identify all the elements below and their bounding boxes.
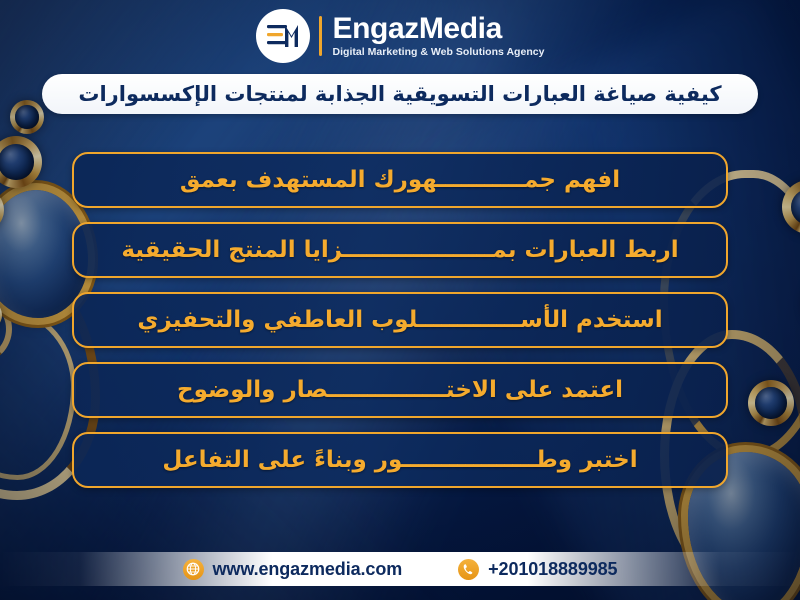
header: EngazMedia Digital Marketing & Web Solut… <box>0 0 800 72</box>
brand-text: EngazMedia Digital Marketing & Web Solut… <box>333 14 545 59</box>
list-item-label: استخدم الأســـــــــــــلوب العاطفي والت… <box>137 307 662 333</box>
list-item-label: اعتمد على الاختـــــــــــــــصار والوضو… <box>177 377 623 403</box>
list-item[interactable]: اختبر وطـــــــــــــــــور وبناءً على ا… <box>72 432 728 488</box>
list-item-label: اربط العبارات بمـــــــــــــــــــزايا … <box>121 237 678 263</box>
website-contact[interactable]: www.engazmedia.com <box>183 559 403 580</box>
em-monogram-logo-icon <box>256 9 310 63</box>
globe-icon <box>183 559 204 580</box>
phone-number: +201018889985 <box>488 559 617 580</box>
brand-tagline: Digital Marketing & Web Solutions Agency <box>333 46 545 58</box>
list-item-label: اختبر وطـــــــــــــــــور وبناءً على ا… <box>162 447 637 473</box>
poster-canvas: EngazMedia Digital Marketing & Web Solut… <box>0 0 800 600</box>
list-item[interactable]: اعتمد على الاختـــــــــــــــصار والوضو… <box>72 362 728 418</box>
brand-name: EngazMedia <box>333 14 545 45</box>
list-item[interactable]: استخدم الأســـــــــــــلوب العاطفي والت… <box>72 292 728 348</box>
phone-contact[interactable]: +201018889985 <box>458 559 617 580</box>
list-item[interactable]: اربط العبارات بمـــــــــــــــــــزايا … <box>72 222 728 278</box>
brand-logo: EngazMedia Digital Marketing & Web Solut… <box>256 9 545 63</box>
website-url: www.engazmedia.com <box>213 559 403 580</box>
tips-list: افهم جمـــــــــــهورك المستهدف بعمق ارب… <box>72 152 728 488</box>
list-item-label: افهم جمـــــــــــهورك المستهدف بعمق <box>180 167 620 193</box>
page-title-pill: كيفية صياغة العبارات التسويقية الجذابة ل… <box>42 74 758 114</box>
list-item[interactable]: افهم جمـــــــــــهورك المستهدف بعمق <box>72 152 728 208</box>
logo-divider <box>319 16 322 56</box>
footer-contact-bar: www.engazmedia.com +201018889985 <box>0 552 800 586</box>
page-title: كيفية صياغة العبارات التسويقية الجذابة ل… <box>78 82 721 106</box>
phone-icon <box>458 559 479 580</box>
